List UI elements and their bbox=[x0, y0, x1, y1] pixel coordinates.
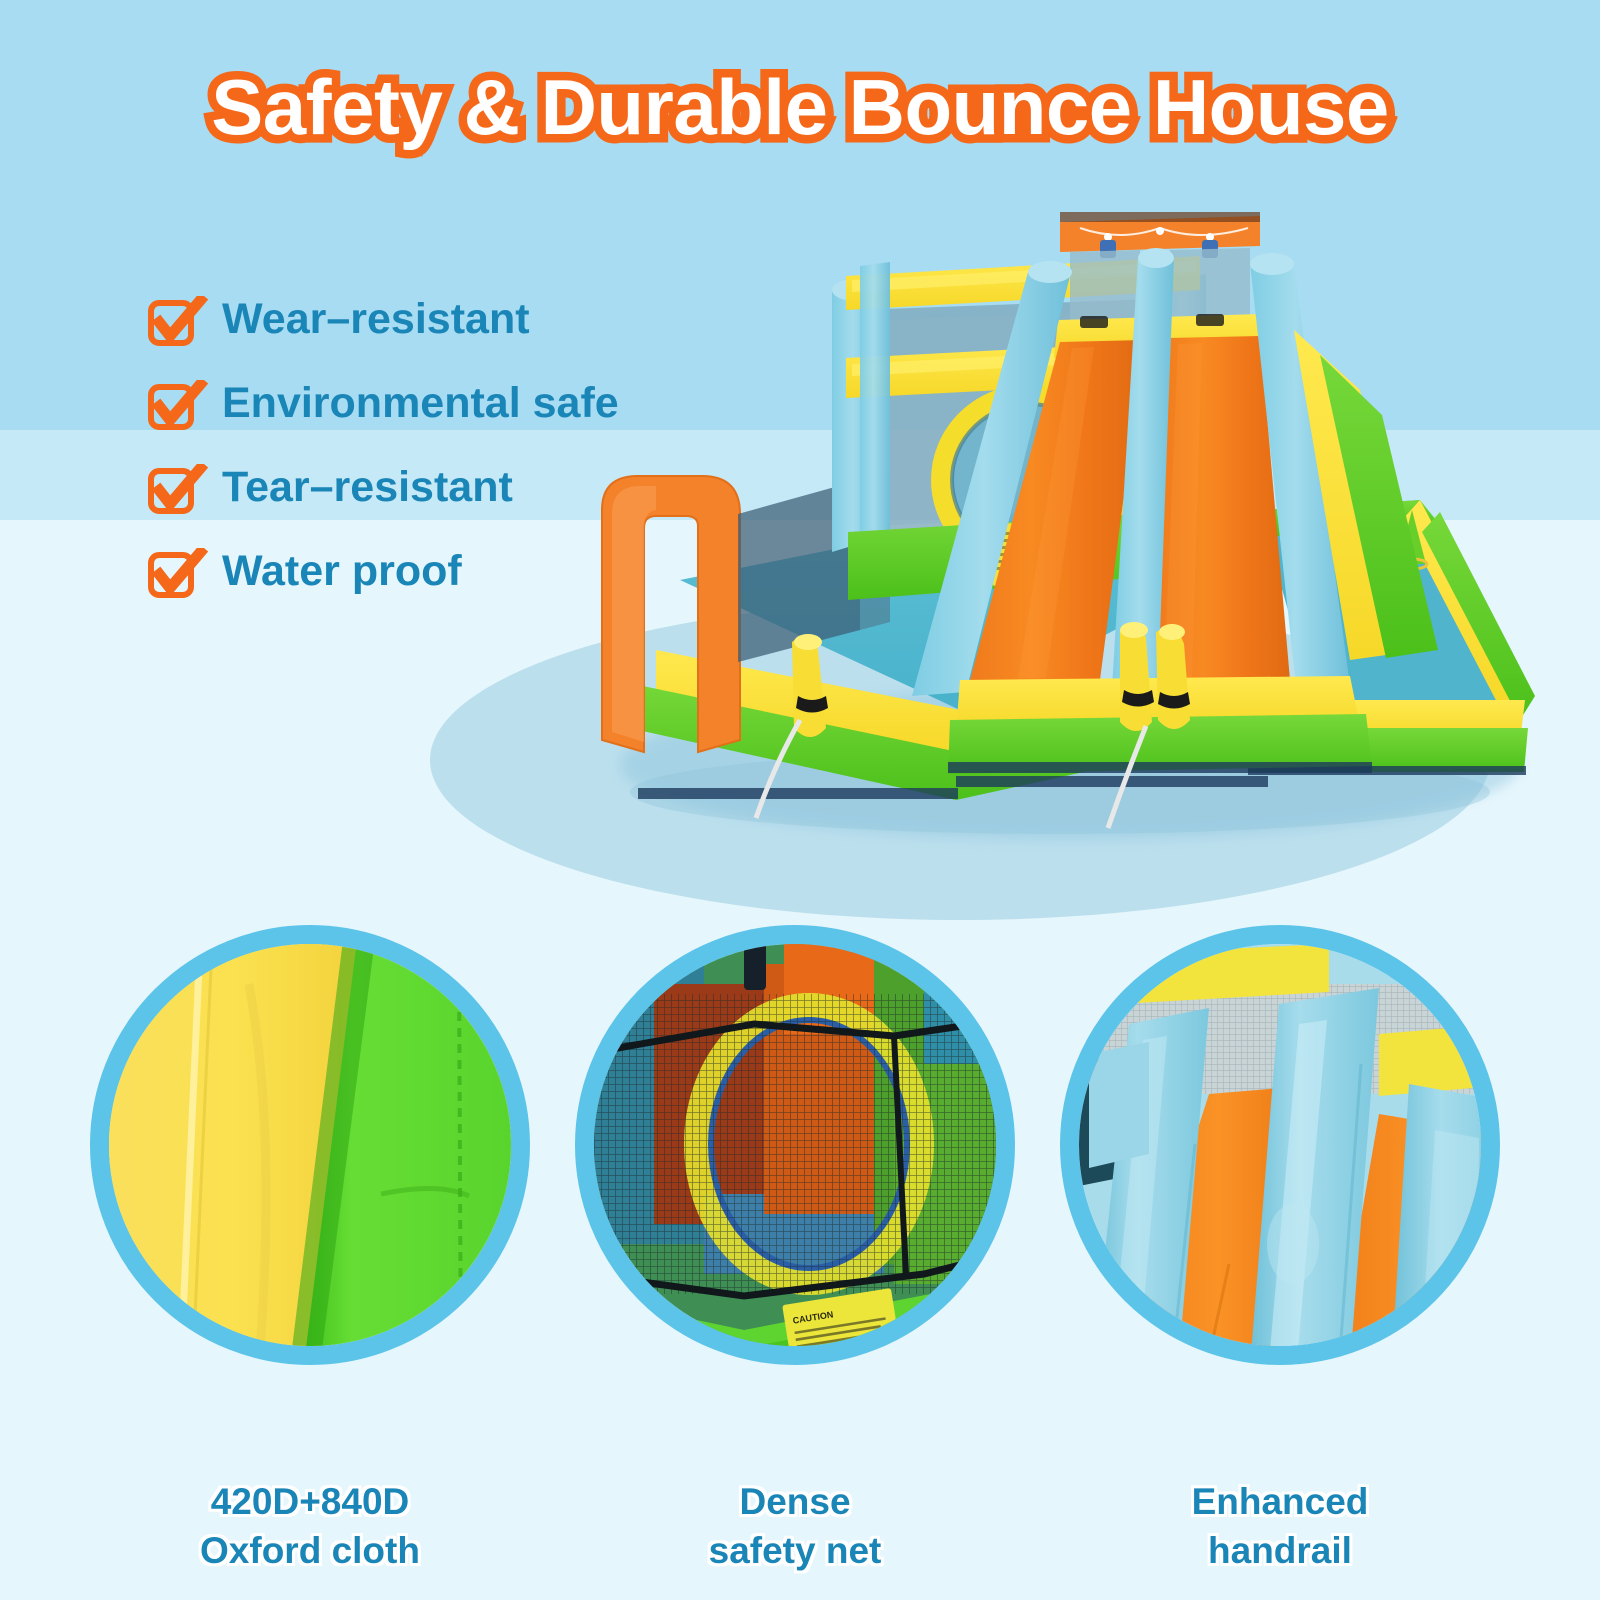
detail-handrail bbox=[1050, 925, 1510, 1365]
detail-safety-net: CAUTION bbox=[565, 925, 1025, 1365]
caption-line-1: Enhanced bbox=[1050, 1478, 1510, 1527]
detail-caption-safety-net: Dense safety net bbox=[565, 1478, 1025, 1576]
detail-caption-handrail: Enhanced handrail bbox=[1050, 1478, 1510, 1576]
checkbox-checked-icon bbox=[148, 462, 200, 514]
feature-label: Water proof bbox=[222, 550, 462, 593]
caption-line-2: handrail bbox=[1050, 1527, 1510, 1576]
detail-image-oxford-cloth bbox=[90, 925, 530, 1365]
feature-label: Tear–resistant bbox=[222, 466, 513, 509]
detail-caption-oxford-cloth: 420D+840D Oxford cloth bbox=[80, 1478, 540, 1576]
caption-line-1: Dense bbox=[565, 1478, 1025, 1527]
detail-image-handrail bbox=[1060, 925, 1500, 1365]
caption-line-2: safety net bbox=[565, 1527, 1025, 1576]
checkbox-checked-icon bbox=[148, 294, 200, 346]
hero-product-image bbox=[560, 180, 1570, 840]
page-title: Safety & Durable Bounce House bbox=[0, 62, 1600, 153]
checkbox-checked-icon bbox=[148, 378, 200, 430]
checkbox-checked-icon bbox=[148, 546, 200, 598]
detail-circles-row: CAUTION bbox=[0, 925, 1600, 1485]
caption-line-2: Oxford cloth bbox=[80, 1527, 540, 1576]
caption-line-1: 420D+840D bbox=[80, 1478, 540, 1527]
feature-label: Wear–resistant bbox=[222, 298, 530, 341]
detail-image-safety-net: CAUTION bbox=[575, 925, 1015, 1365]
detail-oxford-cloth bbox=[80, 925, 540, 1365]
